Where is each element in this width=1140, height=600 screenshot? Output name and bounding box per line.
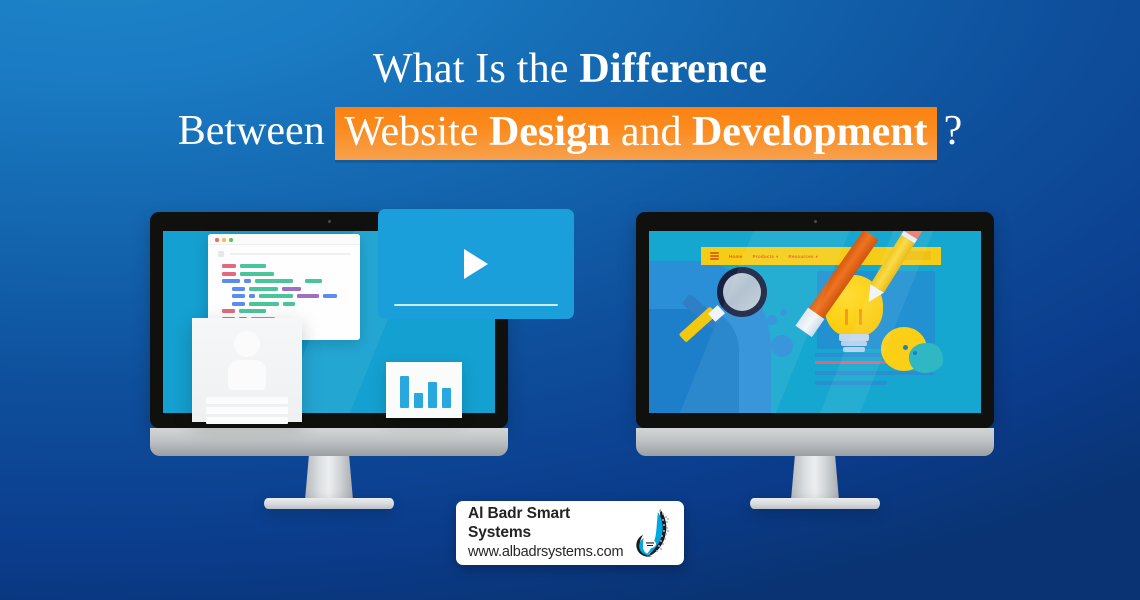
code-line: [222, 264, 352, 268]
title-line-1: What Is the Difference: [0, 48, 1140, 90]
code-token: [297, 294, 319, 298]
monitor-neck-right: [791, 456, 839, 500]
profile-card: [192, 318, 302, 422]
paint-splash: [909, 343, 943, 373]
company-website-url: www.albadrsystems.com: [468, 543, 630, 562]
monitor-screen-right: Home Products▾ Resources▾: [649, 231, 981, 413]
code-token: [249, 287, 278, 291]
profile-text-line: [206, 397, 288, 404]
company-name: Al Badr Smart Systems: [468, 504, 630, 543]
title-bold-difference: Difference: [579, 46, 767, 92]
title-word-development: Development: [692, 109, 928, 155]
window-minimize-dot[interactable]: [222, 238, 226, 242]
code-token: [222, 279, 240, 283]
code-token: [239, 309, 266, 313]
albadr-logo-icon: [630, 507, 672, 559]
title-regular-1: What Is the: [373, 46, 580, 92]
code-token: [222, 309, 235, 313]
logo-text-block: Al Badr Smart Systems www.albadrsystems.…: [468, 504, 630, 563]
user-avatar-body: [228, 360, 266, 390]
code-token: [249, 302, 279, 306]
code-token: [282, 287, 301, 291]
title-line-2: Between Website Design and Development?: [0, 106, 1140, 159]
webcam-icon: [328, 220, 331, 223]
code-token: [222, 272, 236, 276]
development-monitor: [150, 212, 508, 500]
code-token: [255, 279, 293, 283]
code-line: [222, 279, 352, 283]
brush-dot: [913, 351, 917, 355]
code-lines: [222, 264, 352, 324]
chart-bar: [400, 376, 409, 408]
window-maximize-dot[interactable]: [229, 238, 233, 242]
chart-bar: [428, 382, 437, 408]
code-line: [222, 309, 352, 313]
title-word-website: Website: [344, 109, 489, 155]
monitor-foot-right: [750, 498, 880, 509]
design-monitor: Home Products▾ Resources▾: [636, 212, 994, 500]
title-prefix-between: Between: [178, 108, 335, 154]
code-line: [222, 302, 352, 306]
chart-bar: [442, 388, 451, 408]
code-token: [259, 294, 293, 298]
play-icon[interactable]: [464, 249, 488, 279]
code-token: [283, 302, 295, 306]
code-line: [222, 287, 352, 291]
code-line: [222, 272, 352, 276]
brush-dot: [903, 345, 908, 350]
monitor-neck-left: [305, 456, 353, 500]
title-question-mark: ?: [944, 108, 963, 154]
window-close-dot[interactable]: [215, 238, 219, 242]
monitor-foot-left: [264, 498, 394, 509]
bulb-filament: [845, 309, 848, 325]
page-title: What Is the Difference Between Website D…: [0, 48, 1140, 159]
code-line: [222, 294, 352, 298]
bar-chart-card: [386, 362, 462, 418]
code-token: [240, 264, 266, 268]
banner-canvas: What Is the Difference Between Website D…: [0, 0, 1140, 600]
code-token: [244, 279, 251, 283]
video-progress-bar[interactable]: [394, 304, 558, 306]
monitor-chin-right: [636, 428, 994, 456]
profile-text-line: [206, 417, 288, 424]
code-token: [232, 294, 245, 298]
title-word-design: Design: [489, 109, 610, 155]
code-token: [240, 272, 274, 276]
code-token: [232, 287, 245, 291]
monitor-chin-left: [150, 428, 508, 456]
code-token: [305, 279, 322, 283]
company-logo-badge[interactable]: Al Badr Smart Systems www.albadrsystems.…: [456, 501, 684, 565]
nav-item-home[interactable]: Home: [729, 254, 743, 259]
code-window-addressbar[interactable]: [230, 253, 351, 255]
code-token: [323, 294, 337, 298]
code-token: [232, 302, 245, 306]
user-avatar-icon: [234, 331, 260, 357]
title-highlight-box: Website Design and Development: [335, 107, 936, 160]
code-token: [249, 294, 255, 298]
code-token: [222, 264, 236, 268]
title-word-and: and: [610, 109, 692, 155]
video-player-panel[interactable]: [378, 209, 574, 319]
hamburger-icon[interactable]: [710, 251, 719, 261]
webcam-icon: [814, 220, 817, 223]
chart-bar: [414, 393, 423, 408]
profile-text-line: [206, 407, 288, 414]
